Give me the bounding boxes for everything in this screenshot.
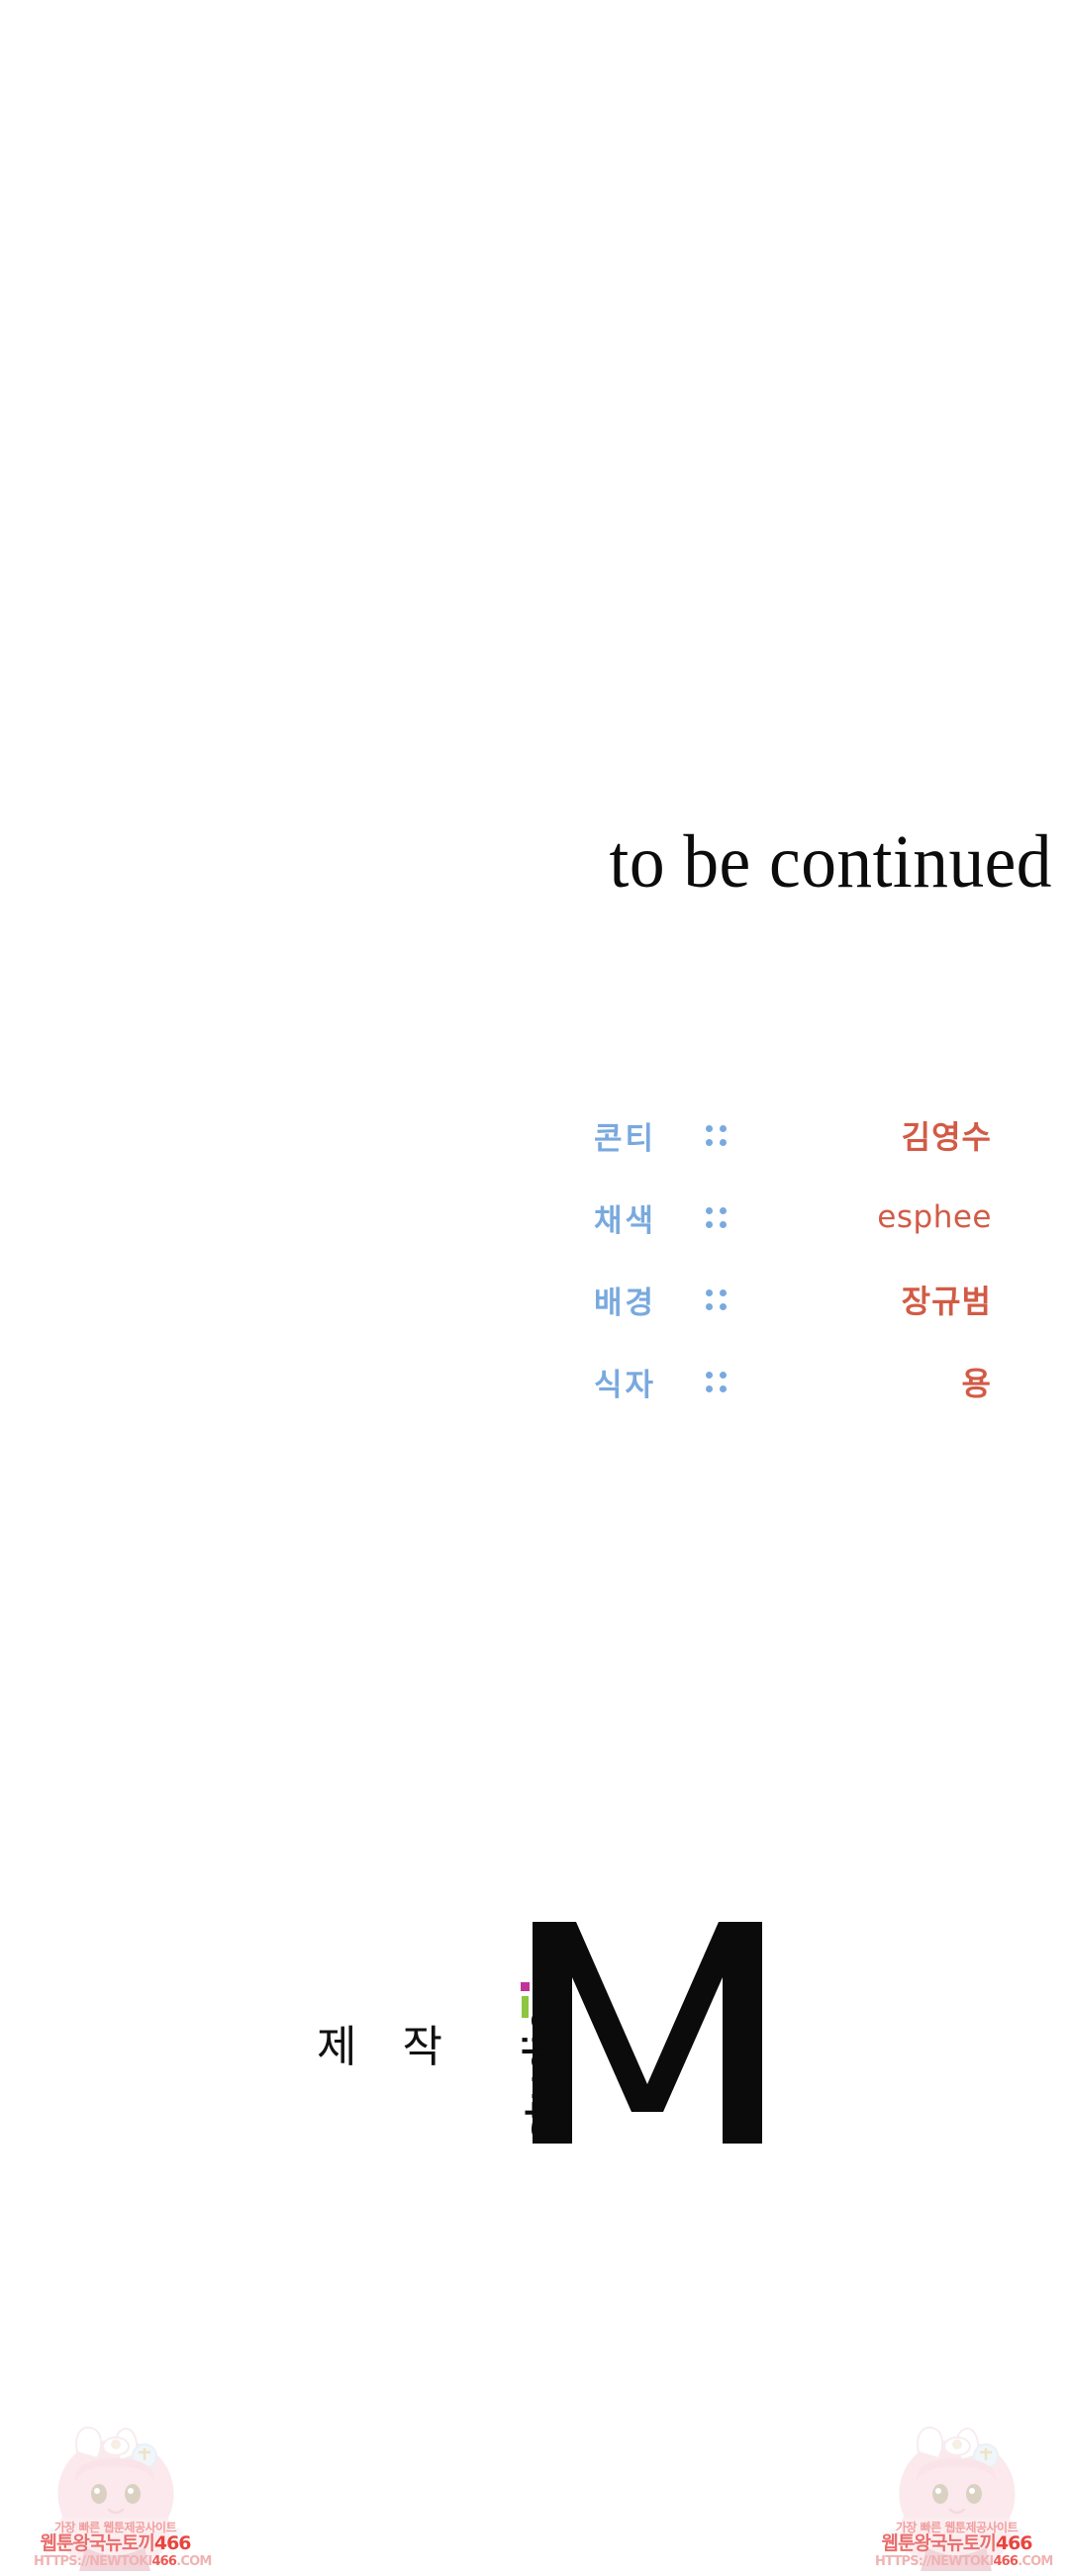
credit-role-label: 배경 (594, 1278, 698, 1322)
watermark-url-number: 466 (151, 2554, 176, 2569)
logo-studio-text: studio (519, 2008, 564, 2142)
watermark-site-name: 웹툰왕국뉴토끼466 (875, 2534, 1038, 2554)
credit-role-label: 콘티 (594, 1113, 698, 1158)
credit-separator-icon (698, 1372, 761, 1392)
production-label: 제 작 (317, 2011, 458, 2074)
credit-row: 채색 esphee (594, 1193, 1000, 1242)
watermark-url-prefix: HTTPS://NEWTOKI (875, 2554, 993, 2569)
credit-row: 배경 장규범 (594, 1275, 1000, 1324)
logo-accent-dot-icon (521, 1982, 530, 1991)
watermark-url-suffix: .COM (1018, 2554, 1052, 2569)
credit-separator-icon (698, 1289, 761, 1310)
credit-role-label: 식자 (594, 1360, 698, 1404)
credit-person-name: 장규범 (761, 1277, 1000, 1322)
watermark-site-name-text: 웹툰왕국뉴토끼 (881, 2532, 995, 2554)
credit-role-label: 채색 (594, 1195, 698, 1240)
watermark-url: HTTPS://NEWTOKI466.COM (875, 2555, 1038, 2569)
webtoon-ending-page: to be continued 콘티 김영수 채색 esphee 배경 장규범 … (0, 0, 1069, 2573)
watermark-bottom-right: 가장 빠른 웹툰제공사이트 웹툰왕국뉴토끼466 HTTPS://NEWTOKI… (875, 2423, 1038, 2571)
watermark-site-number: 466 (996, 2532, 1032, 2554)
watermark-url-suffix: .COM (176, 2554, 211, 2569)
watermark-url-prefix: HTTPS://NEWTOKI (34, 2554, 151, 2569)
to-be-continued-text: to be continued (63, 819, 1052, 905)
credit-separator-icon (698, 1207, 761, 1228)
credit-row: 식자 용 (594, 1357, 1000, 1406)
watermark-site-name: 웹툰왕국뉴토끼466 (34, 2534, 197, 2554)
watermark-url-number: 466 (993, 2554, 1018, 2569)
watermark-url: HTTPS://NEWTOKI466.COM (34, 2555, 197, 2569)
credit-person-name: 용 (761, 1359, 1000, 1404)
watermark-text-block: 가장 빠른 웹툰제공사이트 웹툰왕국뉴토끼466 HTTPS://NEWTOKI… (875, 2522, 1038, 2569)
studio-m-logo: studio (505, 1918, 772, 2165)
watermark-site-name-text: 웹툰왕국뉴토끼 (40, 2532, 153, 2554)
credits-list: 콘티 김영수 채색 esphee 배경 장규범 식자 용 (594, 1110, 1000, 1406)
watermark-bottom-left: 가장 빠른 웹툰제공사이트 웹툰왕국뉴토끼466 HTTPS://NEWTOKI… (34, 2423, 197, 2571)
watermark-site-number: 466 (154, 2532, 191, 2554)
credit-separator-icon (698, 1125, 761, 1146)
watermark-text-block: 가장 빠른 웹툰제공사이트 웹툰왕국뉴토끼466 HTTPS://NEWTOKI… (34, 2522, 197, 2569)
logo-studio-wordmark-rotated: studio (519, 1954, 564, 2142)
production-block: 제 작 studio (0, 1910, 1069, 2207)
credit-person-name: esphee (761, 1199, 1000, 1235)
credit-person-name: 김영수 (761, 1112, 1000, 1158)
credit-row: 콘티 김영수 (594, 1110, 1000, 1160)
logo-accent-bar-icon (522, 1996, 529, 2018)
